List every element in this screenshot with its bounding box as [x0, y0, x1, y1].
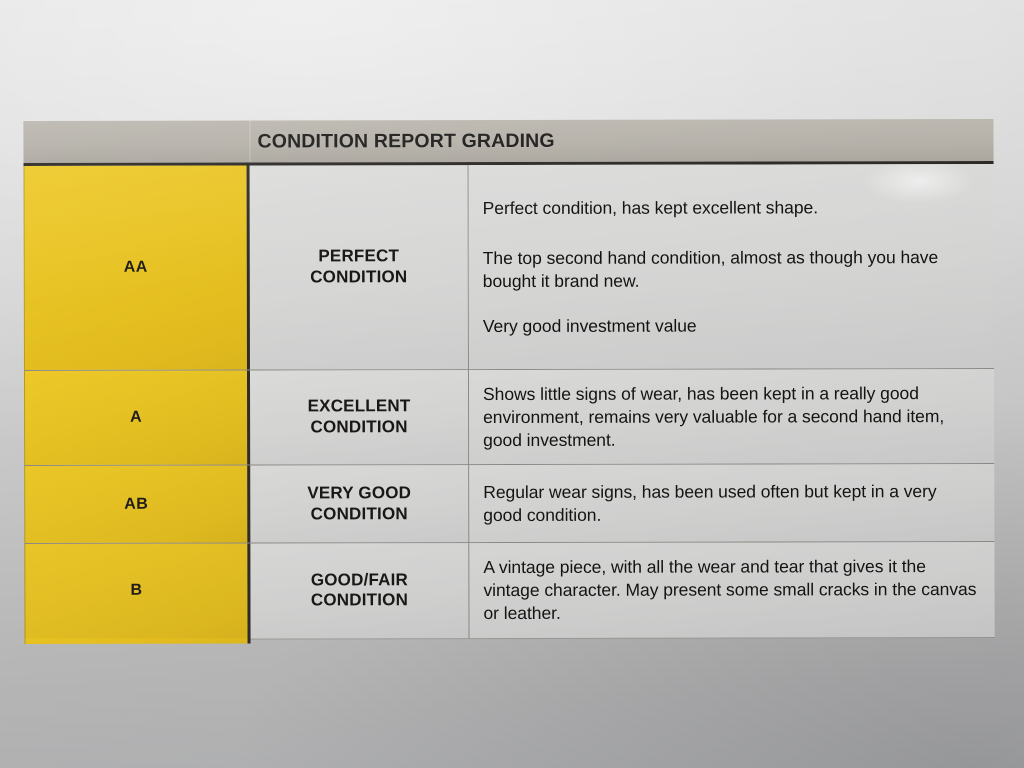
- condition-name-line1: GOOD/FAIR: [311, 570, 408, 591]
- condition-name-line1: VERY GOOD: [307, 483, 411, 504]
- condition-name-line2: CONDITION: [307, 504, 411, 525]
- description-cell: Regular wear signs, has been used often …: [469, 464, 994, 542]
- condition-name: EXCELLENT CONDITION: [308, 397, 411, 439]
- grade-chip-aa: AA: [24, 166, 250, 370]
- table-title: CONDITION REPORT GRADING: [257, 129, 554, 153]
- table-body: AA PERFECT CONDITION Perfect condition, …: [24, 164, 995, 640]
- description-paragraph: Very good investment value: [483, 314, 978, 338]
- condition-name: GOOD/FAIR CONDITION: [311, 570, 408, 612]
- grade-label: A: [130, 409, 142, 427]
- table-row: AB VERY GOOD CONDITION Regular wear sign…: [24, 464, 994, 544]
- condition-name: PERFECT CONDITION: [310, 246, 407, 288]
- condition-name-line2: CONDITION: [311, 591, 408, 612]
- condition-name-line2: CONDITION: [308, 417, 411, 438]
- grade-label: AB: [124, 496, 148, 514]
- description-paragraph: A vintage piece, with all the wear and t…: [483, 555, 978, 624]
- description-cell: A vintage piece, with all the wear and t…: [469, 542, 994, 637]
- condition-name-line1: PERFECT: [310, 246, 407, 267]
- condition-name-cell: VERY GOOD CONDITION: [250, 465, 469, 542]
- grade-chip-a: A: [24, 371, 250, 466]
- table-row: B GOOD/FAIR CONDITION A vintage piece, w…: [24, 542, 994, 639]
- description-cell: Shows little signs of wear, has been kep…: [469, 369, 994, 464]
- description-cell: Perfect condition, has kept excellent sh…: [469, 164, 994, 369]
- description-paragraph: Regular wear signs, has been used often …: [483, 480, 978, 527]
- condition-name: VERY GOOD CONDITION: [307, 483, 411, 525]
- condition-name-line1: EXCELLENT: [308, 397, 411, 418]
- grade-label: B: [130, 582, 142, 600]
- condition-name-cell: EXCELLENT CONDITION: [250, 370, 469, 465]
- table-row: AA PERFECT CONDITION Perfect condition, …: [24, 164, 994, 371]
- condition-name-cell: GOOD/FAIR CONDITION: [250, 543, 469, 638]
- table-row: A EXCELLENT CONDITION Shows little signs…: [24, 369, 994, 466]
- grade-chip-ab: AB: [24, 466, 250, 543]
- grade-label: AA: [124, 259, 148, 277]
- table-header-band: CONDITION REPORT GRADING: [23, 119, 993, 166]
- grade-chip-b: B: [24, 544, 250, 644]
- description-paragraph: The top second hand condition, almost as…: [483, 246, 978, 293]
- condition-name-cell: PERFECT CONDITION: [250, 165, 469, 369]
- condition-name-line2: CONDITION: [310, 267, 407, 288]
- description-paragraph: Perfect condition, has kept excellent sh…: [483, 196, 978, 220]
- condition-report-grading-table: CONDITION REPORT GRADING AA PERFECT COND…: [23, 119, 994, 640]
- description-paragraph: Shows little signs of wear, has been kep…: [483, 382, 978, 451]
